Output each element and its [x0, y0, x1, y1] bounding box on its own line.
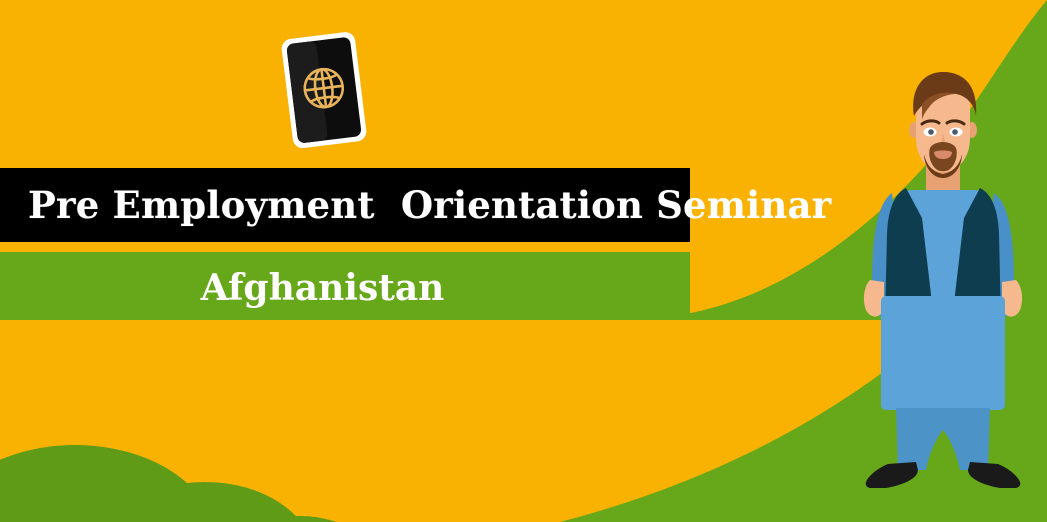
- person-pupil-right: [952, 129, 958, 135]
- person-tunic: [881, 296, 1005, 410]
- person-shoe-right: [968, 462, 1020, 488]
- title-underline: [0, 242, 690, 252]
- passport-icon: [279, 31, 371, 149]
- person-pupil-left: [928, 129, 934, 135]
- person-hand-left: [864, 280, 884, 317]
- person-shoe-left: [866, 462, 918, 488]
- country-subtitle: Afghanistan: [0, 265, 645, 311]
- person-illustration: [848, 68, 1038, 488]
- person-hand-right: [1002, 280, 1022, 317]
- page-title: Pre Employment Orientation Seminar: [28, 179, 831, 231]
- person-trousers: [896, 408, 990, 470]
- seminar-banner: Pre Employment Orientation Seminar Afgha…: [0, 0, 1047, 522]
